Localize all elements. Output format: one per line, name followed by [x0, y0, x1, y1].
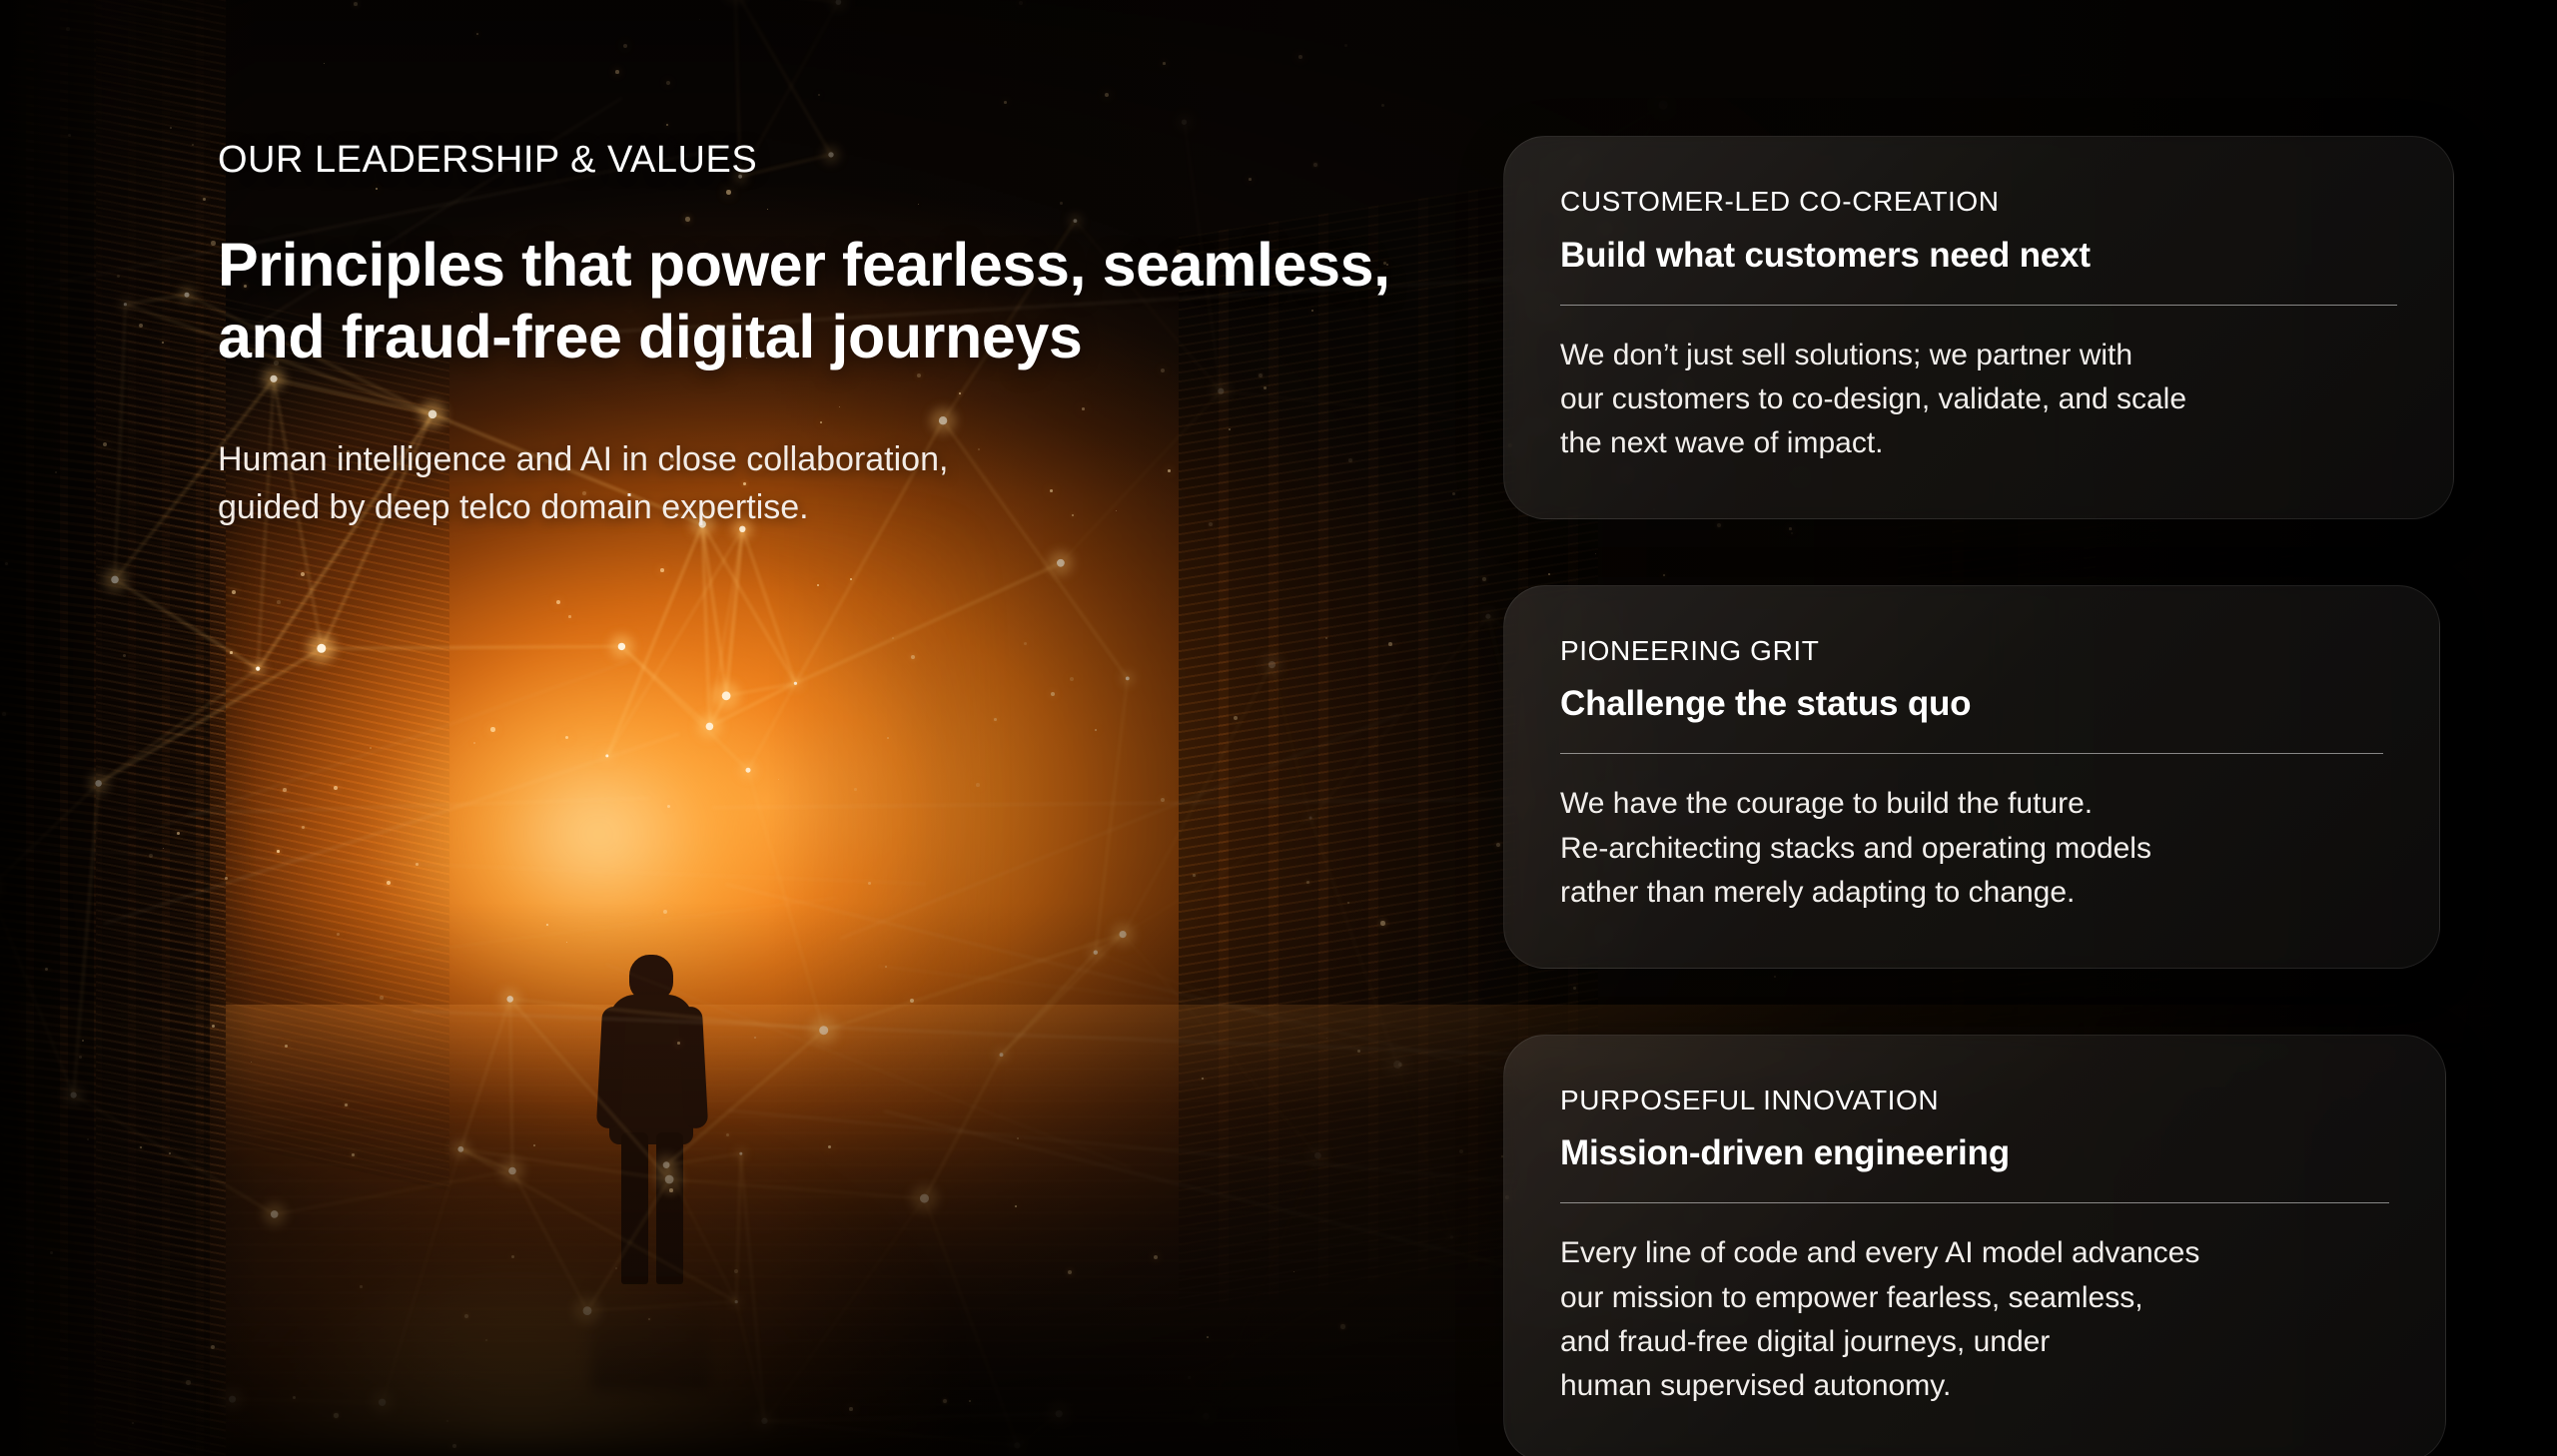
card-body-line: Every line of code and every AI model ad…	[1560, 1231, 2389, 1275]
card-body-line: rather than merely adapting to change.	[1560, 871, 2383, 915]
card-kicker: PIONEERING GRIT	[1560, 634, 2383, 668]
subheading-text: Human intelligence and AI in close colla…	[218, 435, 1177, 532]
value-card-purposeful-innovation[interactable]: PURPOSEFUL INNOVATION Mission-driven eng…	[1503, 1035, 2446, 1456]
eyebrow-label: OUR LEADERSHIP & VALUES	[218, 138, 1456, 184]
card-title: Build what customers need next	[1560, 235, 2397, 277]
headline-line-2: and fraud-free digital journeys	[218, 303, 1082, 370]
card-divider	[1560, 753, 2383, 754]
card-body-line: the next wave of impact.	[1560, 421, 2397, 465]
card-body: Every line of code and every AI model ad…	[1560, 1231, 2389, 1409]
headline-line-1: Principles that power fearless, seamless…	[218, 231, 1390, 299]
card-kicker: PURPOSEFUL INNOVATION	[1560, 1084, 2389, 1117]
headline-block: OUR LEADERSHIP & VALUES Principles that …	[218, 138, 1456, 531]
card-body-line: human supervised autonomy.	[1560, 1364, 2389, 1408]
value-cards-list: CUSTOMER-LED CO-CREATION Build what cust…	[1503, 136, 2454, 1456]
page-title: Principles that power fearless, seamless…	[218, 230, 1446, 373]
subcopy-line-1: Human intelligence and AI in close colla…	[218, 440, 948, 478]
value-card-pioneering-grit[interactable]: PIONEERING GRIT Challenge the status quo…	[1503, 585, 2440, 969]
card-divider	[1560, 305, 2397, 306]
card-title: Mission-driven engineering	[1560, 1132, 2389, 1174]
card-body: We don’t just sell solutions; we partner…	[1560, 334, 2397, 466]
card-kicker: CUSTOMER-LED CO-CREATION	[1560, 185, 2397, 219]
card-body-line: our customers to co-design, validate, an…	[1560, 377, 2397, 421]
slide-canvas: OUR LEADERSHIP & VALUES Principles that …	[0, 0, 2557, 1456]
subcopy-line-2: guided by deep telco domain expertise.	[218, 488, 809, 526]
card-divider	[1560, 1202, 2389, 1203]
card-body-line: and fraud-free digital journeys, under	[1560, 1320, 2389, 1364]
card-body-line: We have the courage to build the future.	[1560, 782, 2383, 826]
card-title: Challenge the status quo	[1560, 683, 2383, 725]
card-body: We have the courage to build the future.…	[1560, 782, 2383, 915]
card-body-line: Re-architecting stacks and operating mod…	[1560, 827, 2383, 871]
value-card-customer-led-co-creation[interactable]: CUSTOMER-LED CO-CREATION Build what cust…	[1503, 136, 2454, 519]
card-body-line: We don’t just sell solutions; we partner…	[1560, 334, 2397, 377]
card-body-line: our mission to empower fearless, seamles…	[1560, 1276, 2389, 1320]
